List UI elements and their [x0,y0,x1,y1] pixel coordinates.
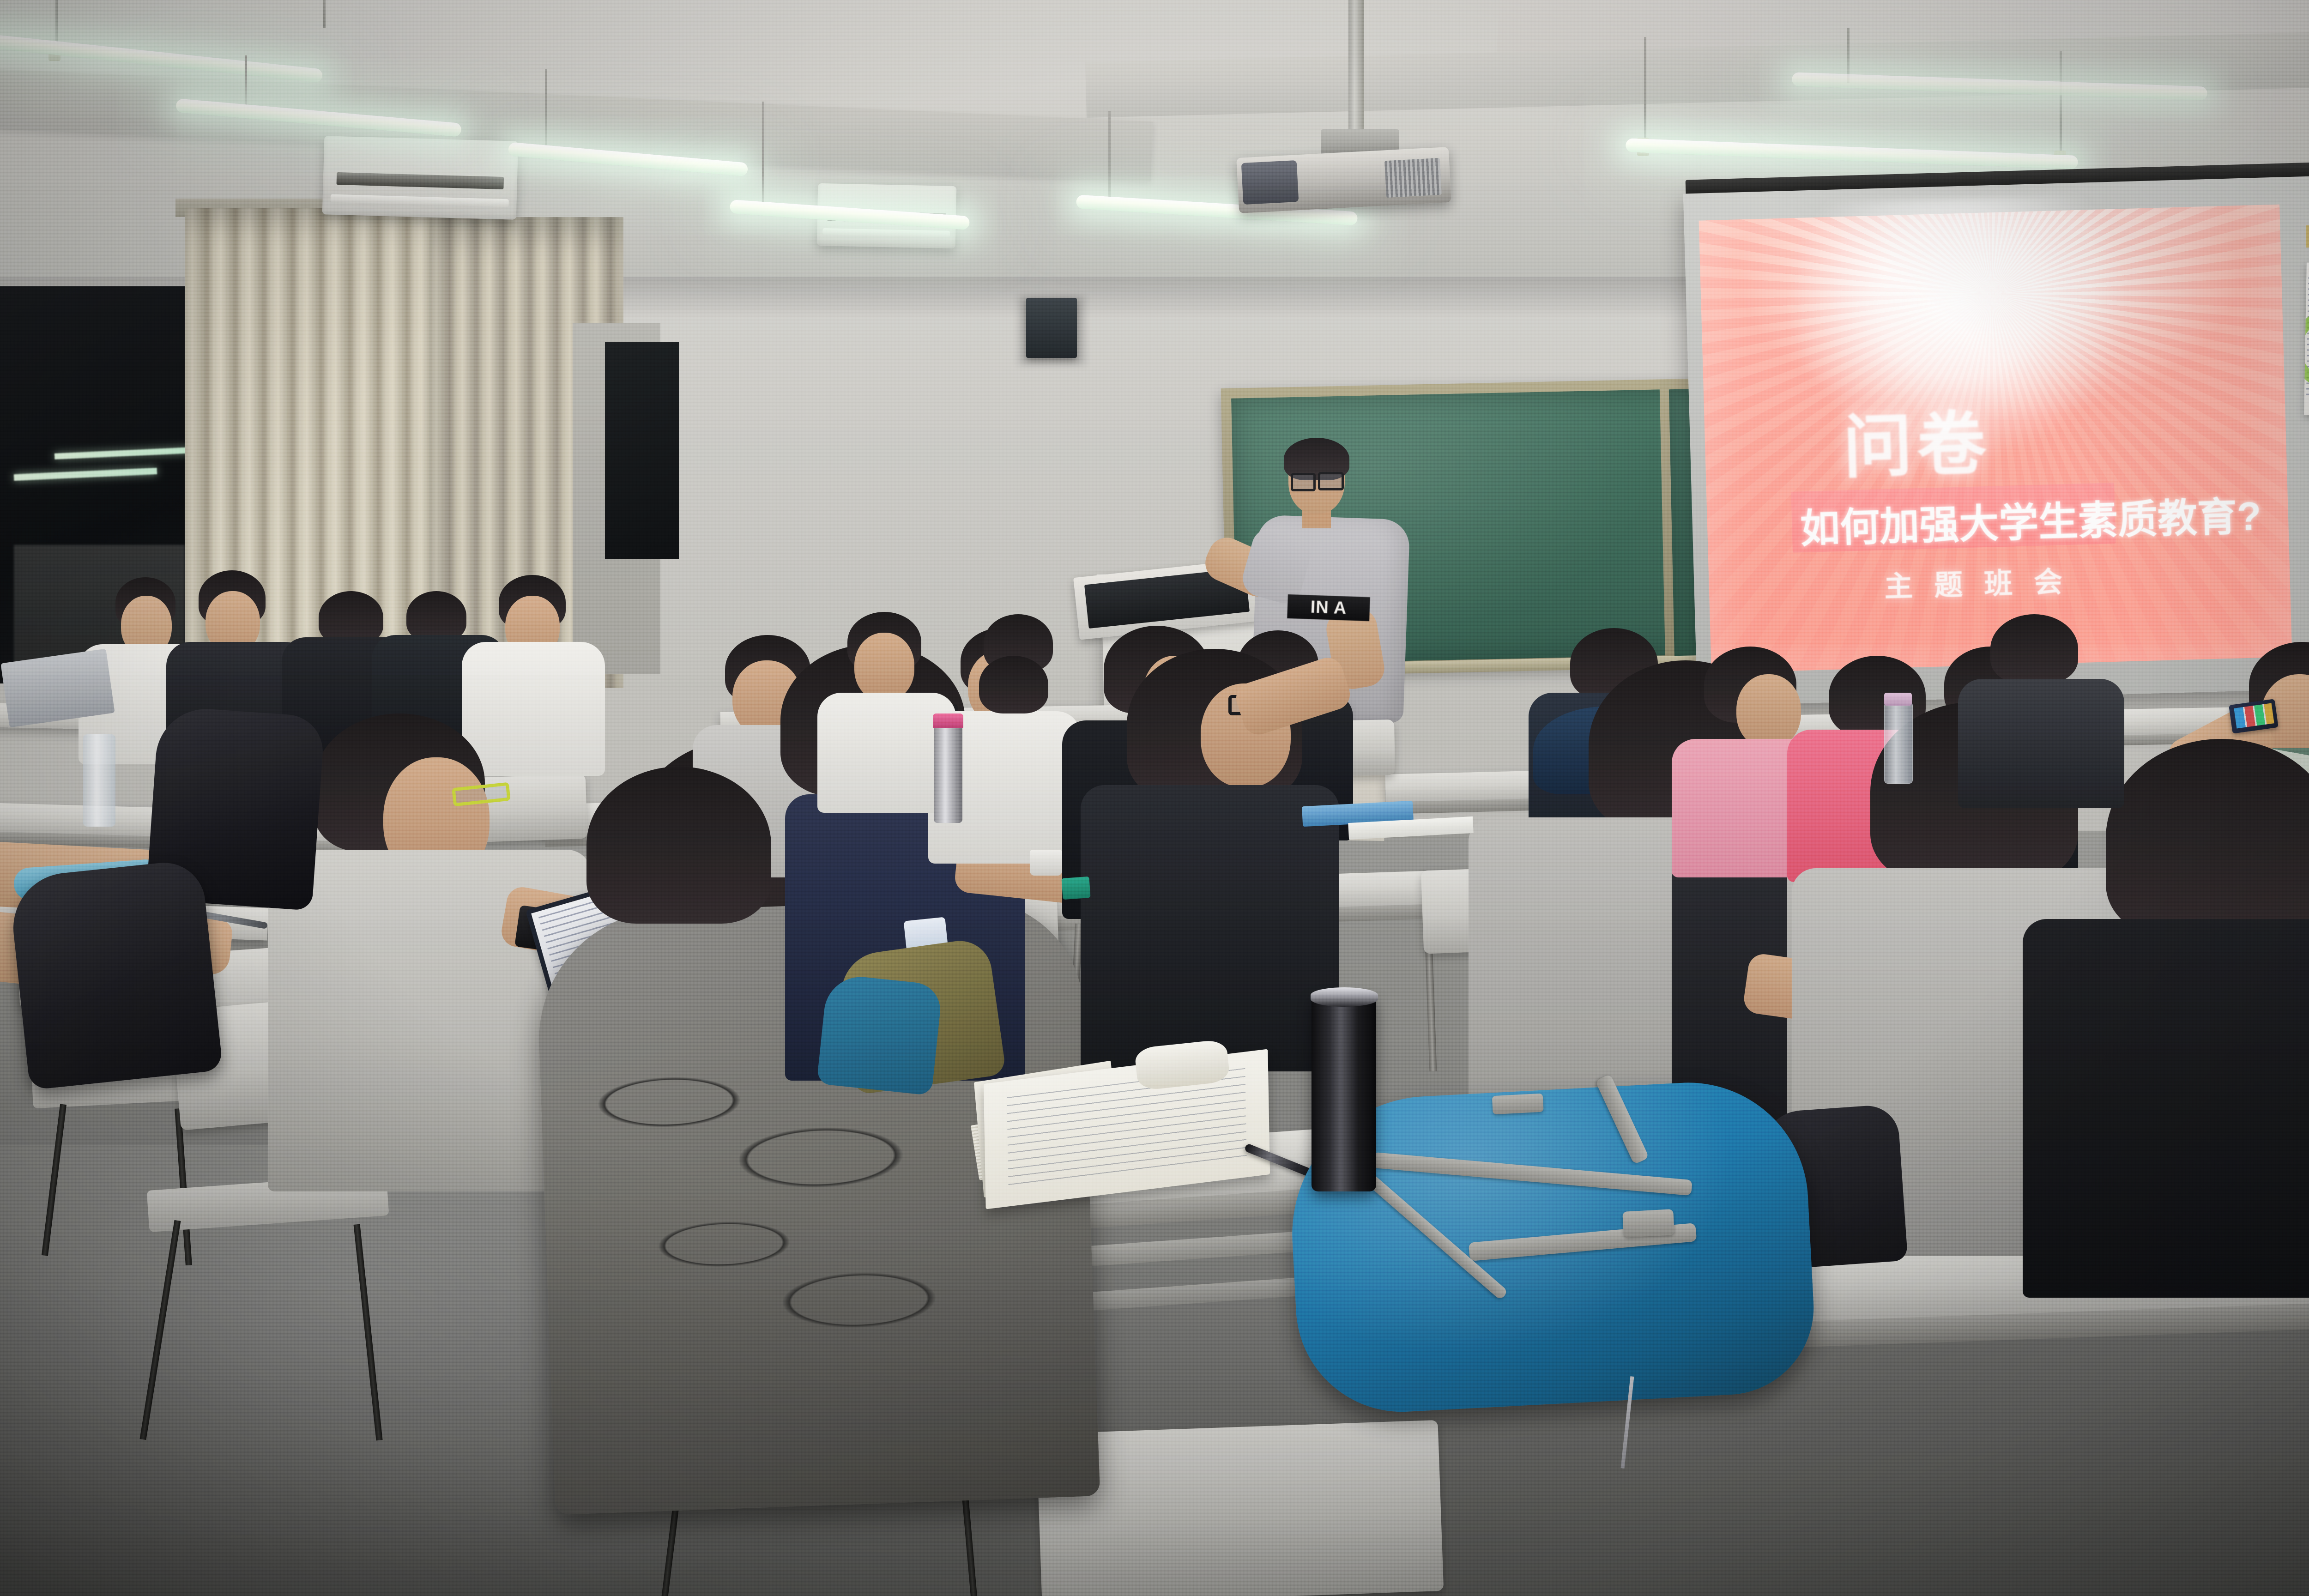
bottle-cap[interactable] [1884,693,1912,706]
student-hair [979,656,1048,713]
white-cup[interactable] [1030,850,1062,876]
slide-question-text: 如何加强大学生素质教育? [1799,487,2124,554]
water-bottle[interactable] [1884,702,1913,784]
student-hair [586,767,771,924]
student-torso [462,642,605,776]
student-torso [2023,919,2309,1298]
student-hair [1990,614,2078,683]
water-bottle[interactable] [83,734,115,827]
projector-lens [1241,160,1299,205]
window-pane-2 [605,342,679,559]
wall-speaker [1026,298,1077,358]
backpack-strap [1595,1074,1649,1165]
student-torso [1958,679,2124,808]
projector-vent-grill [1384,158,1442,198]
slide-subtitle-text: 主题班会 [1884,556,2143,605]
presenter-shirt-graphic: IN A BOXER [1287,594,1370,621]
backpack-black[interactable] [8,858,223,1090]
classroom-photo: 问卷 如何加强大学生素质教育? 主题班会 学生管理守则 IN A BOXER [0,0,2309,1596]
presenter-glasses-icon [1291,473,1316,491]
student-head [854,633,914,701]
student-hair [319,591,383,644]
presenter-glasses-icon [1318,472,1344,490]
green-eraser[interactable] [1061,877,1090,900]
thermos-bottle[interactable] [934,721,962,823]
thermos-cap[interactable] [1311,987,1378,1007]
backpack-handle[interactable] [1492,1093,1544,1114]
backpack-buckle[interactable] [1622,1209,1674,1238]
student-torso [1081,785,1339,1071]
thermos-cap[interactable] [933,713,963,728]
student-hair [406,591,466,641]
poster-tape [2306,225,2309,248]
student-head [1736,674,1801,748]
backpack-teal[interactable] [816,973,943,1096]
black-thermos[interactable] [1312,993,1376,1191]
projector-hotspot-glare [1788,194,2128,462]
projector-mount-pole [1348,0,1364,139]
